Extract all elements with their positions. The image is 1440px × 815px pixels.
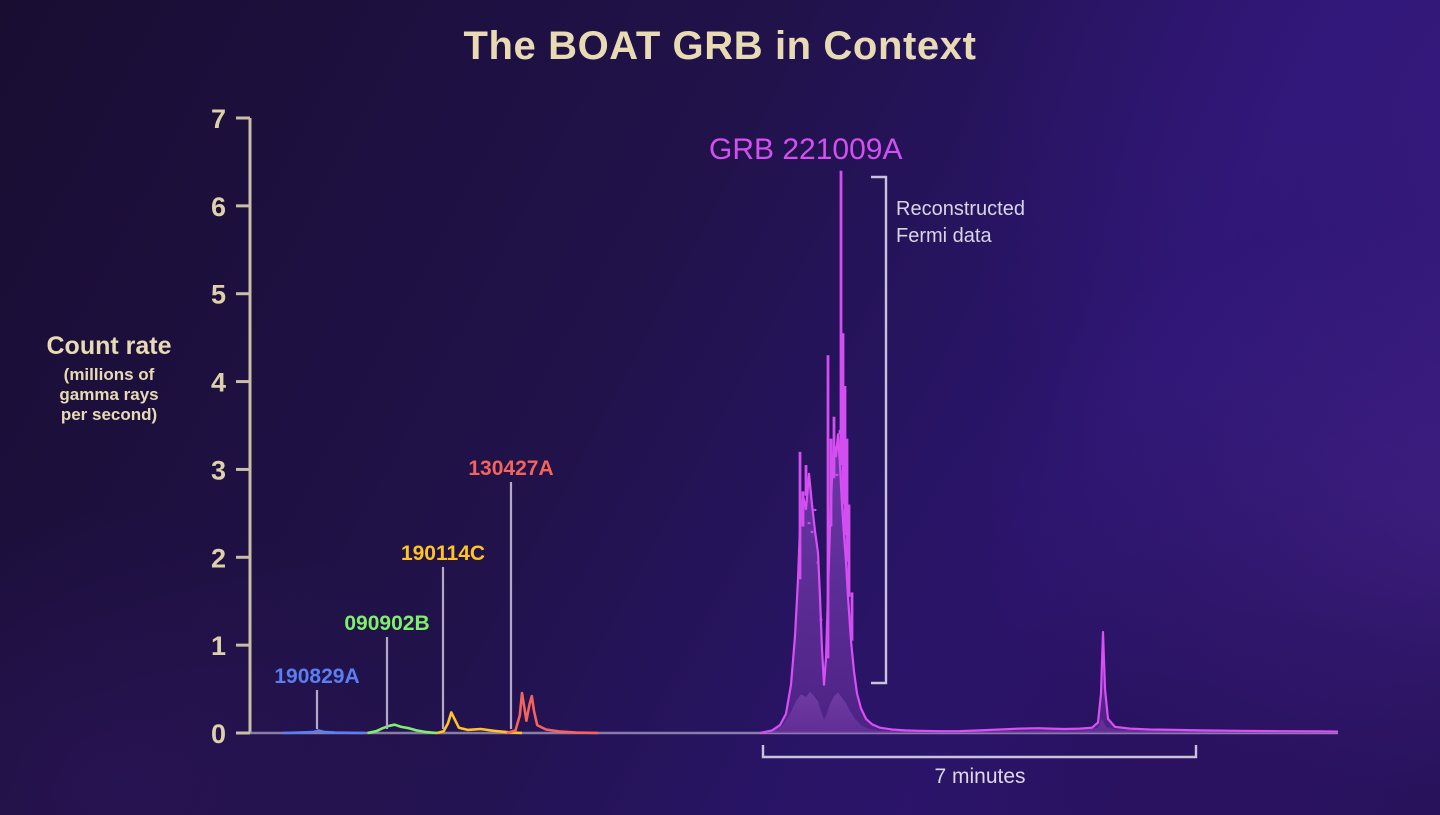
- y-axis: [236, 118, 1338, 733]
- spike-0: [799, 452, 802, 579]
- grb-traces: [283, 693, 599, 733]
- spike-8: [827, 355, 830, 658]
- spike-1: [802, 491, 805, 526]
- spike-10: [833, 417, 836, 479]
- grb-label-090902b: 090902B: [344, 612, 429, 635]
- plot-area: 01234567 190829A 090902B 190114C 130427A…: [0, 0, 1440, 815]
- y-axis-tick-labels: 01234567: [211, 104, 226, 749]
- spike-17: [848, 505, 851, 597]
- grb-221009a-title: GRB 221009A: [709, 133, 902, 166]
- grb-label-130427a: 130427A: [468, 457, 553, 480]
- spike-2: [805, 465, 808, 496]
- reconstructed-bracket: [871, 177, 886, 683]
- y-tick-2: 2: [211, 543, 226, 573]
- y-tick-4: 4: [211, 368, 226, 398]
- y-tick-0: 0: [211, 719, 226, 749]
- y-tick-5: 5: [211, 280, 226, 310]
- spike-4: [811, 531, 814, 533]
- duration-label: 7 minutes: [934, 765, 1025, 788]
- grb-label-190829a: 190829A: [274, 665, 359, 688]
- trace-130427a: [507, 693, 598, 733]
- y-tick-7: 7: [211, 104, 226, 134]
- spike-3: [808, 522, 811, 524]
- spike-5: [814, 509, 817, 511]
- trace-190829a: [283, 731, 365, 734]
- spike-18: [851, 592, 854, 640]
- label-leader-lines: [317, 482, 511, 729]
- spike-7: [820, 619, 823, 621]
- spike-6: [817, 562, 820, 564]
- bracket-label-line-2: Fermi data: [896, 225, 992, 247]
- spike-9: [830, 439, 833, 527]
- y-tick-6: 6: [211, 192, 226, 222]
- trace-190114c: [437, 712, 522, 733]
- y-tick-1: 1: [211, 631, 226, 661]
- y-tick-3: 3: [211, 455, 226, 485]
- duration-bracket: [763, 745, 1196, 757]
- grb-label-190114c: 190114C: [401, 542, 485, 565]
- bracket-label-line-1: Reconstructed: [896, 198, 1025, 220]
- spike-11: [836, 474, 839, 476]
